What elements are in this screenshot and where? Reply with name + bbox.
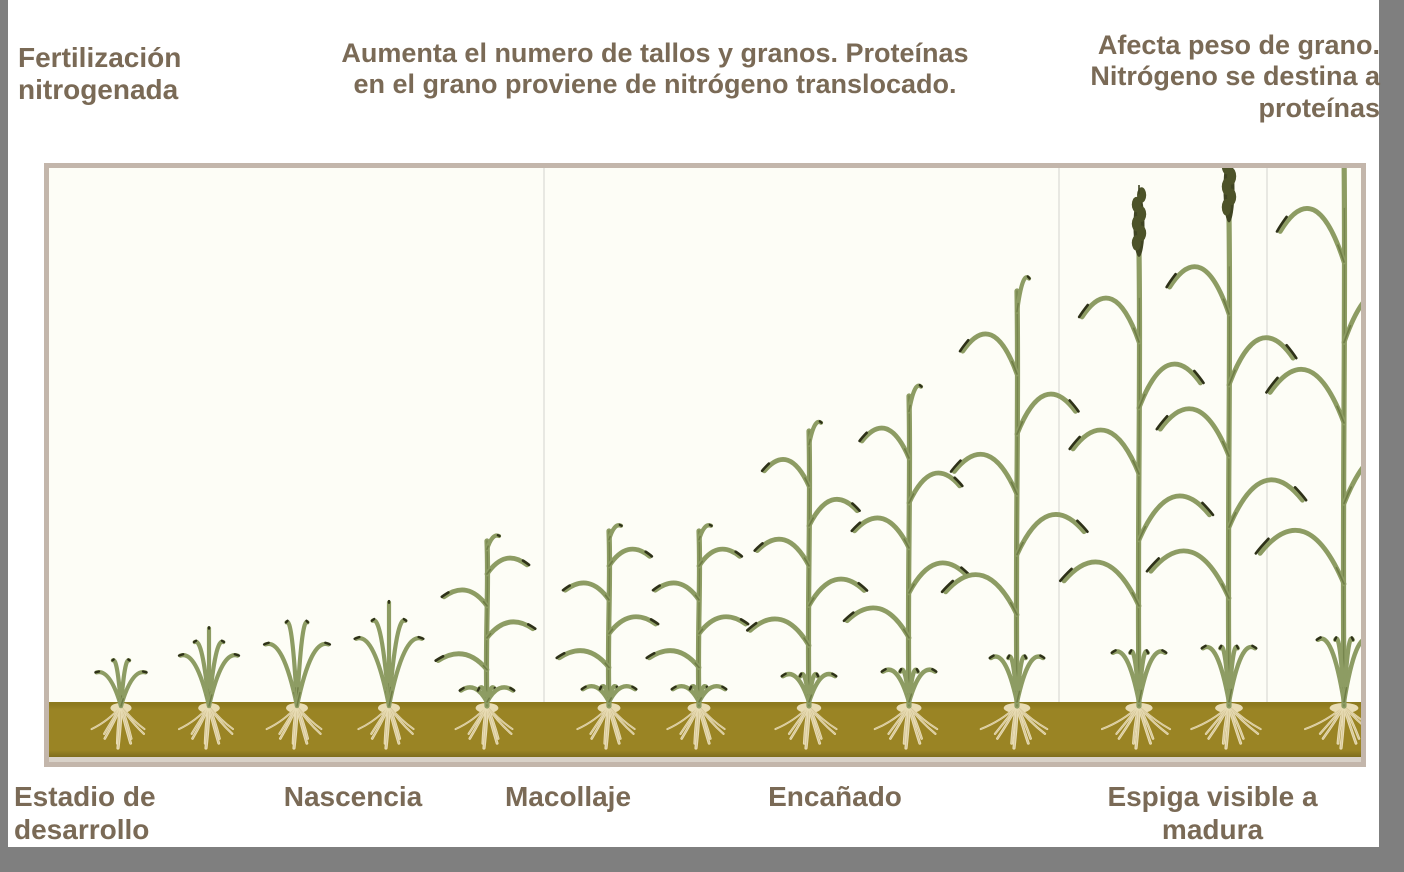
illustration-stage (49, 168, 1361, 762)
stage-label-espiga-line2: madura (1040, 813, 1385, 846)
soil-baseline (49, 757, 1361, 762)
stage-label-estadio-line1: Estadio de (14, 780, 244, 813)
slide-border-right (1379, 0, 1404, 872)
wheat-plant-10 (957, 285, 1077, 748)
slide-border-left (0, 0, 8, 872)
slide-border-bottom (0, 847, 1404, 872)
growth-stage-illustration-panel (44, 163, 1366, 767)
stage-label-espiga: Espiga visible a madura (1040, 780, 1385, 846)
stage-label-espiga-line1: Espiga visible a (1040, 780, 1385, 813)
stage-label-macollaje: Macollaje (468, 780, 668, 813)
header-middle-note: Aumenta el numero de tallos y granos. Pr… (340, 38, 970, 101)
stage-label-nascencia: Nascencia (258, 780, 448, 813)
wheat-plant-7 (639, 525, 759, 748)
stage-label-estadio-line2: desarrollo (14, 813, 244, 846)
slide-root: Fertilización nitrogenada Aumenta el num… (0, 0, 1404, 872)
wheat-plant-9 (849, 390, 969, 748)
stage-label-encanado: Encañado (725, 780, 945, 813)
header-fertilization-label: Fertilización nitrogenada (18, 42, 318, 107)
wheat-plant-12 (1169, 210, 1289, 748)
stage-label-estadio: Estadio de desarrollo (14, 780, 244, 846)
wheat-plant-13 (1284, 163, 1366, 748)
header-right-note: Afecta peso de grano. Nitrógeno se desti… (1000, 30, 1380, 124)
wheat-plant-5 (427, 535, 547, 748)
